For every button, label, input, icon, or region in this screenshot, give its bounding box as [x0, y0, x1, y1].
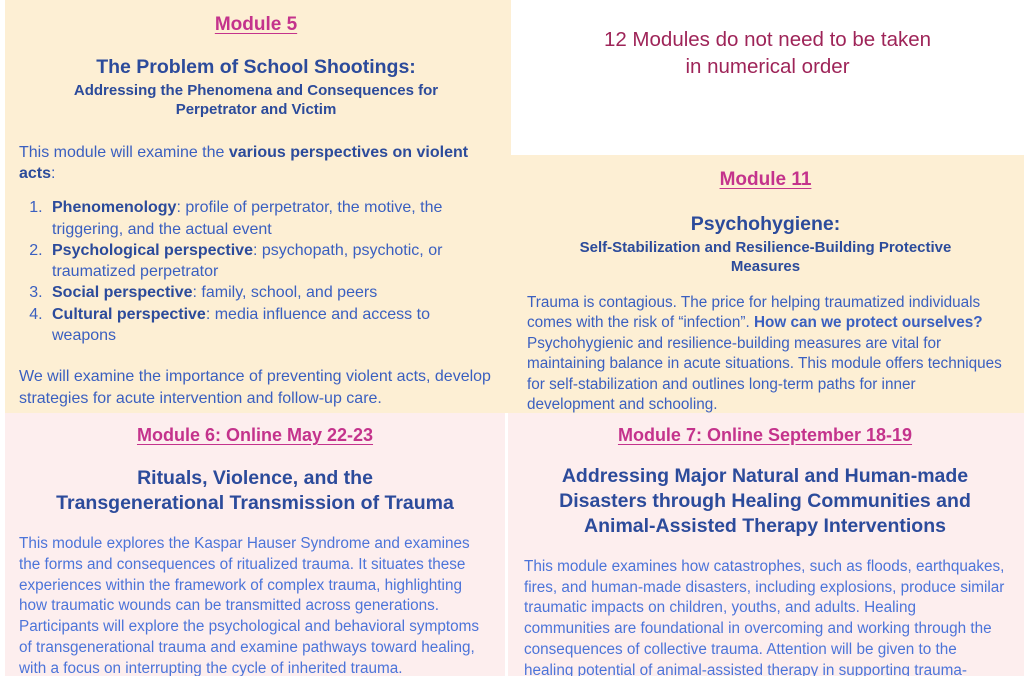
modules-order-note: 12 Modules do not need to be taken in nu… — [541, 26, 994, 80]
module-11-title-sub-line2: Measures — [527, 258, 1004, 277]
module-5-perspectives-list: Phenomenology: profile of perpetrator, t… — [47, 197, 493, 346]
module-5-title-sub-line2: Perpetrator and Victim — [19, 101, 493, 120]
list-item-term: Social perspective — [52, 284, 193, 301]
module-5-intro: This module will examine the various per… — [19, 142, 493, 185]
module-11-label: Module 11 — [527, 169, 1004, 191]
module-5-title-sub-line1: Addressing the Phenomena and Consequence… — [19, 82, 493, 101]
module-11-body-after: Psychohygienic and resilience-building m… — [527, 335, 1002, 413]
module-6-body: This module explores the Kaspar Hauser S… — [19, 534, 491, 676]
list-item-term: Cultural perspective — [52, 306, 206, 323]
list-item: Social perspective: family, school, and … — [47, 282, 493, 303]
list-item: Cultural perspective: media influence an… — [47, 304, 493, 347]
slide-canvas: Module 5 The Problem of School Shootings… — [0, 0, 1024, 676]
module-7-title: Addressing Major Natural and Human-made … — [524, 464, 1006, 539]
module-5-intro-before: This module will examine the — [19, 144, 229, 161]
list-item-text: : family, school, and peers — [193, 284, 378, 301]
module-6-title: Rituals, Violence, and the Transgenerati… — [19, 466, 491, 516]
module-11-panel: Module 11 Psychohygiene: Self-Stabilizat… — [511, 155, 1024, 413]
modules-order-note-panel: 12 Modules do not need to be taken in nu… — [511, 0, 1024, 155]
module-7-label: Module 7: Online September 18-19 — [524, 425, 1006, 446]
list-item: Phenomenology: profile of perpetrator, t… — [47, 197, 493, 240]
module-11-title-sub-line1: Self-Stabilization and Resilience-Buildi… — [527, 239, 1004, 258]
module-6-title-line2: Transgenerational Transmission of Trauma — [19, 491, 491, 516]
module-5-title-sub: Addressing the Phenomena and Consequence… — [19, 82, 493, 120]
module-5-panel: Module 5 The Problem of School Shootings… — [5, 0, 511, 413]
module-7-title-line2: Disasters through Healing Communities an… — [524, 489, 1006, 514]
module-11-body: Trauma is contagious. The price for help… — [527, 293, 1004, 416]
module-7-title-line3: Animal-Assisted Therapy Interventions — [524, 514, 1006, 539]
list-item-term: Psychological perspective — [52, 242, 253, 259]
module-11-title-sub: Self-Stabilization and Resilience-Buildi… — [527, 239, 1004, 277]
list-item-term: Phenomenology — [52, 199, 176, 216]
module-6-label: Module 6: Online May 22-23 — [19, 425, 491, 446]
note-line-1: 12 Modules do not need to be taken — [541, 26, 994, 53]
module-5-title-main: The Problem of School Shootings: — [19, 56, 493, 79]
module-5-intro-after: : — [51, 165, 55, 182]
module-7-panel: Module 7: Online September 18-19 Address… — [508, 413, 1024, 676]
module-6-title-line1: Rituals, Violence, and the — [19, 466, 491, 491]
module-7-body: This module examines how catastrophes, s… — [524, 557, 1006, 676]
module-11-body-bold: How can we protect ourselves? — [754, 314, 983, 331]
module-11-title-main: Psychohygiene: — [527, 213, 1004, 236]
module-5-label: Module 5 — [19, 14, 493, 36]
module-6-panel: Module 6: Online May 22-23 Rituals, Viol… — [5, 413, 505, 676]
note-line-2: in numerical order — [541, 53, 994, 80]
list-item: Psychological perspective: psychopath, p… — [47, 240, 493, 283]
module-7-title-line1: Addressing Major Natural and Human-made — [524, 464, 1006, 489]
module-5-outro: We will examine the importance of preven… — [19, 366, 493, 409]
